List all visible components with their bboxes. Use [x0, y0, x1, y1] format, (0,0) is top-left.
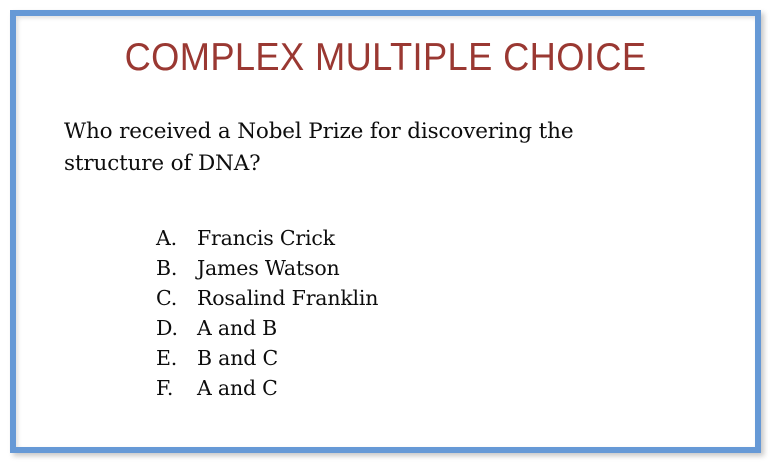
- option-text-c: Rosalind Franklin: [197, 283, 616, 313]
- answer-options-list: A. Francis Crick B. James Watson C. Rosa…: [156, 223, 616, 403]
- question-line-1: Who received a Nobel Prize for discoveri…: [64, 116, 694, 148]
- answer-option-b[interactable]: B. James Watson: [156, 253, 616, 283]
- option-letter-b: B.: [156, 253, 197, 283]
- page-title: COMPLEX MULTIPLE CHOICE: [42, 38, 729, 79]
- option-text-b: James Watson: [197, 253, 616, 283]
- slide-frame: COMPLEX MULTIPLE CHOICE Who received a N…: [10, 10, 761, 453]
- option-text-f: A and C: [197, 373, 616, 403]
- slide-content-area: COMPLEX MULTIPLE CHOICE Who received a N…: [16, 16, 755, 447]
- option-letter-e: E.: [156, 343, 197, 373]
- option-letter-c: C.: [156, 283, 197, 313]
- answer-option-f[interactable]: F. A and C: [156, 373, 616, 403]
- question-line-2: structure of DNA?: [64, 148, 694, 180]
- slide-root: COMPLEX MULTIPLE CHOICE Who received a N…: [0, 0, 771, 463]
- option-letter-f: F.: [156, 373, 197, 403]
- option-letter-d: D.: [156, 313, 197, 343]
- answer-option-c[interactable]: C. Rosalind Franklin: [156, 283, 616, 313]
- option-text-a: Francis Crick: [197, 223, 616, 253]
- question-prompt: Who received a Nobel Prize for discoveri…: [64, 116, 694, 180]
- option-letter-a: A.: [156, 223, 197, 253]
- option-text-e: B and C: [197, 343, 616, 373]
- answer-option-d[interactable]: D. A and B: [156, 313, 616, 343]
- answer-option-a[interactable]: A. Francis Crick: [156, 223, 616, 253]
- answer-option-e[interactable]: E. B and C: [156, 343, 616, 373]
- option-text-d: A and B: [197, 313, 616, 343]
